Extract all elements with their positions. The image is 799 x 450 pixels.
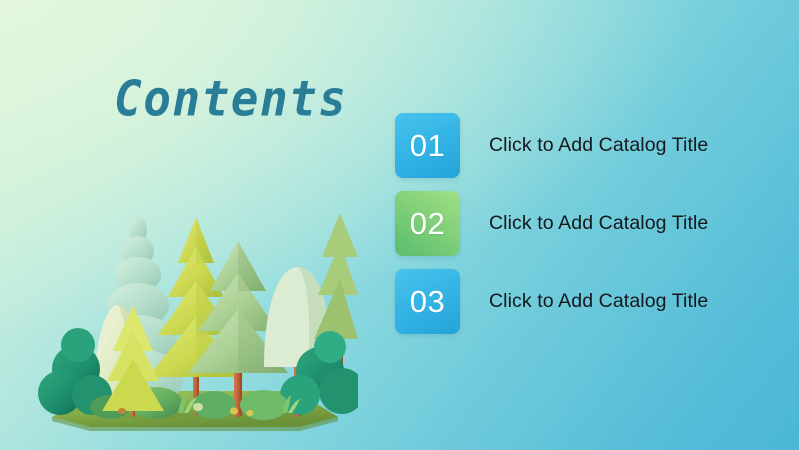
contents-list: 01 Click to Add Catalog Title 02 Click t… <box>395 113 775 347</box>
list-item[interactable]: 03 Click to Add Catalog Title <box>395 269 775 334</box>
forest-illustration <box>38 155 358 440</box>
contents-title[interactable]: Click to Add Catalog Title <box>489 134 708 157</box>
contents-title[interactable]: Click to Add Catalog Title <box>489 212 708 235</box>
contents-number: 01 <box>410 130 445 161</box>
contents-number-badge[interactable]: 02 <box>395 191 460 256</box>
contents-number: 03 <box>410 286 445 317</box>
page-title: Contents <box>114 71 348 126</box>
presentation-slide: Contents <box>0 0 799 450</box>
list-item[interactable]: 02 Click to Add Catalog Title <box>395 191 775 256</box>
contents-title[interactable]: Click to Add Catalog Title <box>489 290 708 313</box>
contents-number-badge[interactable]: 03 <box>395 269 460 334</box>
list-item[interactable]: 01 Click to Add Catalog Title <box>395 113 775 178</box>
contents-number-badge[interactable]: 01 <box>395 113 460 178</box>
contents-number: 02 <box>410 208 445 239</box>
